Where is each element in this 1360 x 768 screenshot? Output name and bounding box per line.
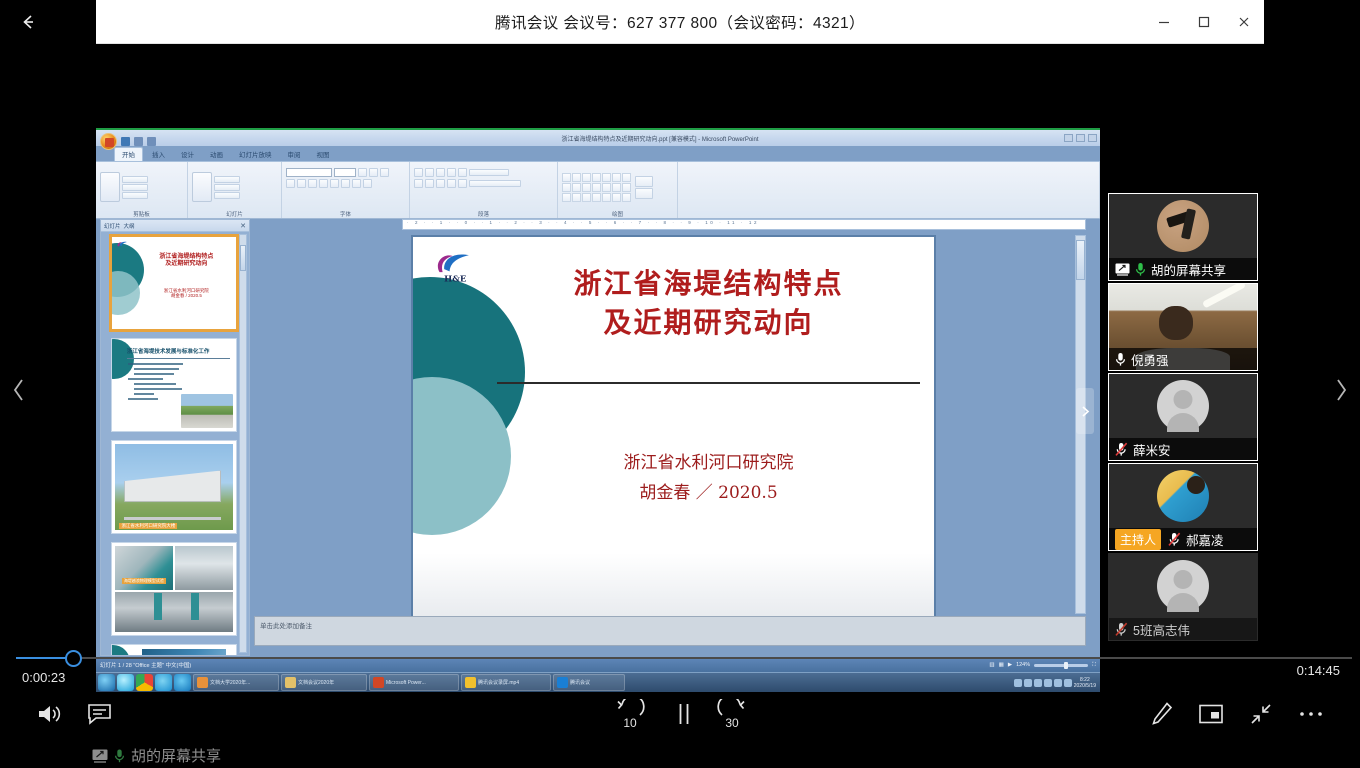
font-size-select[interactable]	[334, 168, 356, 177]
forward-30-button[interactable]: 30	[710, 690, 754, 738]
slide-thumbnail-4[interactable]: 海堤越浪物理模型试验	[111, 542, 237, 636]
ribbon-group-editing[interactable]	[678, 162, 1100, 218]
tray-icon-5[interactable]	[1054, 679, 1062, 687]
participant-tile-4[interactable]: 5班高志伟	[1108, 553, 1258, 641]
strikethrough-button[interactable]	[330, 179, 339, 188]
line-spacing-button[interactable]	[458, 168, 467, 177]
avatar	[1157, 470, 1209, 522]
ribbon-group-slides[interactable]: 幻灯片	[188, 162, 282, 218]
align-left-button[interactable]	[414, 179, 423, 188]
chevron-right-icon	[1079, 404, 1092, 419]
slide-edit-pane: · 2 · · 1 · · 0 · · 1 · · 2 · · 3 · · 4 …	[254, 219, 1086, 656]
layout-button[interactable]	[214, 176, 240, 183]
participant-tile-0[interactable]: 胡的屏幕共享	[1108, 193, 1258, 281]
participant-name: 5班高志伟	[1133, 620, 1190, 639]
shapes-gallery[interactable]	[562, 173, 631, 202]
undo-icon[interactable]	[134, 137, 143, 146]
maximize-button[interactable]	[1184, 0, 1224, 44]
playback-progress-slider[interactable]	[8, 648, 1352, 676]
edge-icon[interactable]	[117, 674, 134, 691]
close-icon	[1237, 15, 1251, 29]
slide-title: 浙江省海堤结构特点 及近期研究动向	[497, 265, 920, 342]
progress-track[interactable]	[16, 657, 1352, 659]
copy-button[interactable]	[122, 184, 148, 191]
participant-name-row: 5班高志伟	[1109, 618, 1257, 640]
participant-name-row: 胡的屏幕共享	[1109, 258, 1257, 280]
horizontal-ruler: · 2 · · 1 · · 0 · · 1 · · 2 · · 3 · · 4 …	[402, 219, 1086, 230]
font-family-select[interactable]	[286, 168, 332, 177]
forward-glyph: 30	[717, 699, 747, 729]
next-page-button[interactable]	[1324, 368, 1358, 412]
clear-formatting-button[interactable]	[380, 168, 389, 177]
svg-text:H&E: H&E	[444, 274, 467, 283]
screen-share-label: 胡的屏幕共享	[131, 745, 221, 766]
shadow-button[interactable]	[319, 179, 328, 188]
powerpoint-ribbon[interactable]: 剪贴板 幻灯片	[96, 161, 1100, 219]
shared-screen-view[interactable]: 浙江省海堤结构特点及近期研究动向.ppt [兼容模式] - Microsoft …	[96, 128, 1100, 692]
participant-tile-2[interactable]: 薛米安	[1108, 373, 1258, 461]
cut-button[interactable]	[122, 176, 148, 183]
increase-indent-button[interactable]	[447, 168, 456, 177]
outline-tab[interactable]: 大纲	[124, 222, 135, 230]
redo-icon[interactable]	[147, 137, 156, 146]
avatar	[1157, 560, 1209, 612]
justify-button[interactable]	[447, 179, 456, 188]
he-logo-icon	[116, 240, 129, 250]
font-color-button[interactable]	[363, 179, 372, 188]
taskbar-item-1[interactable]: 文档会议2020年	[281, 674, 367, 691]
ie-icon[interactable]	[98, 674, 115, 691]
ribbon-tab-2[interactable]: 设计	[174, 148, 201, 161]
panel-collapse-button[interactable]	[1076, 388, 1094, 434]
playback-controls: 10 30	[0, 690, 1360, 738]
notes-placeholder[interactable]: 单击此处添加备注	[254, 616, 1086, 646]
cloud-icon[interactable]	[155, 674, 172, 691]
ribbon-tab-6[interactable]: 视图	[310, 148, 337, 161]
slides-thumbnail-pane[interactable]: 幻灯片 大纲 ✕ 浙江省海堤结构特点 及近期研究动向 浙江省水利	[100, 219, 250, 656]
rewind-seconds: 10	[615, 716, 645, 730]
microphone-icon	[1135, 262, 1146, 277]
slide-thumbnail-2[interactable]: 浙江省海堤技术发展与标准化工作	[111, 338, 237, 432]
picture-in-picture-button[interactable]	[1190, 690, 1232, 738]
participant-name-row: 薛米安	[1109, 438, 1257, 460]
powerpoint-icon	[373, 677, 384, 688]
powerpoint-workarea: 幻灯片 大纲 ✕ 浙江省海堤结构特点 及近期研究动向 浙江省水利	[96, 219, 1100, 656]
back-arrow-icon	[17, 11, 39, 33]
folder2-icon	[285, 677, 296, 688]
rewind-10-button[interactable]: 10	[608, 690, 652, 738]
align-right-button[interactable]	[436, 179, 445, 188]
delete-slide-button[interactable]	[214, 192, 240, 199]
folder-icon	[197, 677, 208, 688]
current-slide[interactable]: H&E 浙江省海堤结构特点 及近期研究动向 浙江省水利河口研究院 胡金春 ／ 2…	[411, 235, 936, 623]
ribbon-group-paragraph[interactable]: 段落	[410, 162, 558, 218]
app-icon	[465, 677, 476, 688]
slides-tab[interactable]: 幻灯片	[104, 222, 121, 230]
slide-thumbnail-1[interactable]: 浙江省海堤结构特点 及近期研究动向 浙江省水利河口研究院 胡金春 / 2020.…	[111, 236, 237, 330]
participant-name: 胡的屏幕共享	[1151, 260, 1226, 279]
slides-pane-tabs[interactable]: 幻灯片 大纲 ✕	[101, 220, 249, 232]
quick-styles-button[interactable]	[635, 188, 653, 199]
progress-knob[interactable]	[65, 650, 82, 667]
previous-page-button[interactable]	[2, 368, 36, 412]
slide-stage: H&E 浙江省海堤结构特点 及近期研究动向 浙江省水利河口研究院 胡金春 ／ 2…	[254, 235, 1086, 614]
participant-tile-1[interactable]: 倪勇强	[1108, 283, 1258, 371]
powerpoint-document-title: 浙江省海堤结构特点及近期研究动向.ppt [兼容模式] - Microsoft …	[266, 134, 1054, 143]
bullets-button[interactable]	[414, 168, 423, 177]
ribbon-tab-5[interactable]: 审阅	[281, 148, 308, 161]
minimize-icon	[1157, 15, 1171, 29]
slide-subtitle: 浙江省水利河口研究院 胡金春 ／ 2020.5	[497, 449, 920, 509]
chevron-left-icon	[9, 376, 29, 404]
save-icon[interactable]	[121, 137, 130, 146]
chat-button[interactable]	[78, 690, 120, 738]
ribbon-group-label-font: 字体	[286, 210, 405, 218]
app2-icon	[557, 677, 568, 688]
thumbnail-title: 浙江省海堤结构特点 及近期研究动向	[144, 254, 228, 269]
ribbon-group-label-drawing: 绘图	[562, 210, 673, 218]
ribbon-group-clipboard[interactable]: 剪贴板	[96, 162, 188, 218]
slide-decor-gradient	[413, 553, 934, 621]
slide-title-divider	[497, 382, 920, 384]
exit-fullscreen-button[interactable]	[1240, 690, 1282, 738]
volume-button[interactable]	[28, 690, 72, 738]
thumbnail-caption: 浙江省水利河口研究院大楼	[119, 523, 177, 529]
microphone-icon	[1115, 352, 1126, 367]
reset-button[interactable]	[214, 184, 240, 191]
participant-list[interactable]: 胡的屏幕共享 倪勇强 薛米安 主持人	[1108, 193, 1258, 643]
thumbnail-photo	[181, 394, 233, 428]
meeting-title: 腾讯会议 会议号：627 377 800（会议密码：4321）	[96, 11, 1144, 33]
tray-icon-3[interactable]	[1034, 679, 1042, 687]
pause-icon	[675, 702, 693, 726]
screen-share-icon	[92, 749, 108, 763]
participant-name: 薛米安	[1133, 440, 1171, 459]
powerpoint-quick-access-toolbar[interactable]	[96, 134, 256, 148]
close-icon[interactable]: ✕	[240, 222, 246, 230]
speaker-icon	[36, 701, 64, 727]
paste-button[interactable]	[100, 172, 120, 202]
ribbon-tab-3[interactable]: 动画	[203, 148, 230, 161]
tray-clock: 8:22 2020/5/19	[1074, 677, 1096, 689]
microphone-icon	[114, 748, 125, 764]
slides-pane-scrollbar[interactable]	[239, 234, 247, 653]
text-direction-button[interactable]	[469, 169, 509, 176]
thumbnail-heading: 浙江省海堤技术发展与标准化工作	[127, 347, 230, 355]
participant-name-row: 倪勇强	[1109, 348, 1257, 370]
tray-icon-6[interactable]	[1064, 679, 1072, 687]
chrome-icon[interactable]	[136, 674, 153, 691]
annotate-button[interactable]	[1140, 690, 1184, 738]
taskbar-item-4[interactable]: 腾讯会议	[553, 674, 625, 691]
participant-tile-3[interactable]: 主持人 郝嘉凌	[1108, 463, 1258, 551]
new-slide-button[interactable]	[192, 172, 212, 202]
arrange-button[interactable]	[635, 176, 653, 187]
format-painter-button[interactable]	[122, 192, 148, 199]
ribbon-tab-1[interactable]: 插入	[145, 148, 172, 161]
microphone-muted-icon	[1115, 442, 1128, 457]
microphone-muted-icon	[1115, 622, 1128, 637]
numbering-button[interactable]	[425, 168, 434, 177]
powerpoint-ribbon-tabs[interactable]: 开始 插入 设计 动画 幻灯片放映 审阅 视图	[114, 147, 1100, 161]
thumbnail-caption: 海堤越浪物理模型试验	[122, 578, 166, 584]
thumbnail-subtitle: 浙江省水利河口研究院 胡金春 / 2020.5	[144, 288, 228, 300]
taskbar-item-3[interactable]: 腾讯会议录屏.mp4	[461, 674, 551, 691]
decrease-indent-button[interactable]	[436, 168, 445, 177]
ribbon-group-label-slides: 幻灯片	[192, 210, 277, 218]
chat-bubble-icon	[87, 703, 112, 726]
taskbar-item-0[interactable]: 文档大学2020年...	[193, 674, 279, 691]
minimize-button[interactable]	[1144, 0, 1184, 44]
ribbon-group-font[interactable]: 字体	[282, 162, 410, 218]
pause-button[interactable]	[664, 690, 704, 738]
bold-button[interactable]	[286, 179, 295, 188]
screen-share-status: 胡的屏幕共享	[92, 745, 221, 766]
pip-icon	[1199, 704, 1223, 724]
participant-name: 郝嘉凌	[1186, 530, 1224, 549]
tray-icon-1[interactable]	[1014, 679, 1022, 687]
tray-icon-4[interactable]	[1044, 679, 1052, 687]
slide-thumbnail-list[interactable]: 浙江省海堤结构特点 及近期研究动向 浙江省水利河口研究院 胡金春 / 2020.…	[101, 232, 249, 655]
tray-icon-2[interactable]	[1024, 679, 1032, 687]
progress-fill	[16, 657, 70, 659]
ribbon-tab-0[interactable]: 开始	[114, 147, 143, 161]
rewind-glyph: 10	[615, 699, 645, 729]
back-button[interactable]	[8, 4, 48, 40]
more-ellipsis-icon	[1298, 710, 1324, 718]
pencil-icon	[1150, 701, 1174, 727]
more-options-button[interactable]	[1290, 690, 1332, 738]
avatar	[1157, 380, 1209, 432]
shrink-font-button[interactable]	[369, 168, 378, 177]
columns-button[interactable]	[458, 179, 467, 188]
ribbon-group-label-clipboard: 剪贴板	[100, 210, 183, 218]
host-badge: 主持人	[1115, 529, 1161, 550]
italic-button[interactable]	[297, 179, 306, 188]
slide-thumbnail-3[interactable]: 浙江省水利河口研究院大楼	[111, 440, 237, 534]
close-button[interactable]	[1224, 0, 1264, 44]
chevron-right-icon	[1331, 376, 1351, 404]
change-case-button[interactable]	[352, 179, 361, 188]
character-spacing-button[interactable]	[341, 179, 350, 188]
forward-seconds: 30	[717, 716, 747, 730]
exit-fullscreen-icon	[1249, 702, 1273, 726]
window-titlebar: 腾讯会议 会议号：627 377 800（会议密码：4321）	[96, 0, 1264, 44]
cloud2-icon[interactable]	[174, 674, 191, 691]
microphone-muted-icon	[1168, 532, 1181, 547]
grow-font-button[interactable]	[358, 168, 367, 177]
convert-to-smartart-button[interactable]	[469, 180, 521, 187]
ribbon-tab-4[interactable]: 幻灯片放映	[232, 148, 279, 161]
he-logo-icon: H&E	[431, 249, 479, 283]
powerpoint-window-buttons[interactable]	[1054, 134, 1100, 142]
participant-name-row: 主持人 郝嘉凌	[1109, 528, 1257, 550]
maximize-icon	[1197, 15, 1211, 29]
screen-share-icon	[1115, 263, 1130, 276]
window-buttons	[1144, 0, 1264, 44]
system-tray[interactable]: 8:22 2020/5/19	[1014, 677, 1098, 689]
underline-button[interactable]	[308, 179, 317, 188]
ribbon-group-drawing[interactable]: 绘图	[558, 162, 678, 218]
taskbar-item-2[interactable]: Microsoft Power...	[369, 674, 459, 691]
align-center-button[interactable]	[425, 179, 434, 188]
remaining-time: 0:14:45	[1297, 663, 1340, 678]
participant-name: 倪勇强	[1131, 350, 1169, 369]
elapsed-time: 0:00:23	[22, 670, 65, 685]
ribbon-group-label-paragraph: 段落	[414, 210, 553, 218]
avatar	[1157, 200, 1209, 252]
